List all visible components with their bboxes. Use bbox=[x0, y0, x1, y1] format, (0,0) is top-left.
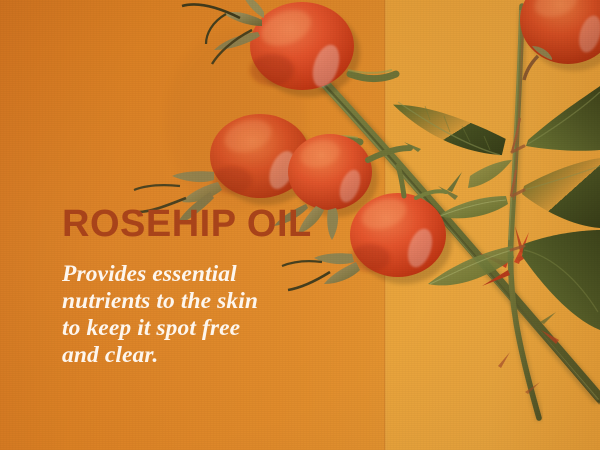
leaf-fragment-left bbox=[468, 160, 512, 188]
body-line-3: to keep it spot free bbox=[62, 315, 362, 342]
rosehip-berry-top-right bbox=[520, 0, 600, 80]
body-copy: Provides essential nutrients to the skin… bbox=[62, 261, 362, 369]
secondary-stem bbox=[509, 6, 540, 420]
body-line-4: and clear. bbox=[62, 342, 362, 369]
text-block: ROSEHIP OIL Provides essential nutrients… bbox=[62, 205, 362, 369]
body-line-2: nutrients to the skin bbox=[62, 288, 362, 315]
page-title: ROSEHIP OIL bbox=[62, 205, 362, 243]
body-line-1: Provides essential bbox=[62, 261, 362, 288]
poster: ROSEHIP OIL Provides essential nutrients… bbox=[0, 0, 600, 450]
